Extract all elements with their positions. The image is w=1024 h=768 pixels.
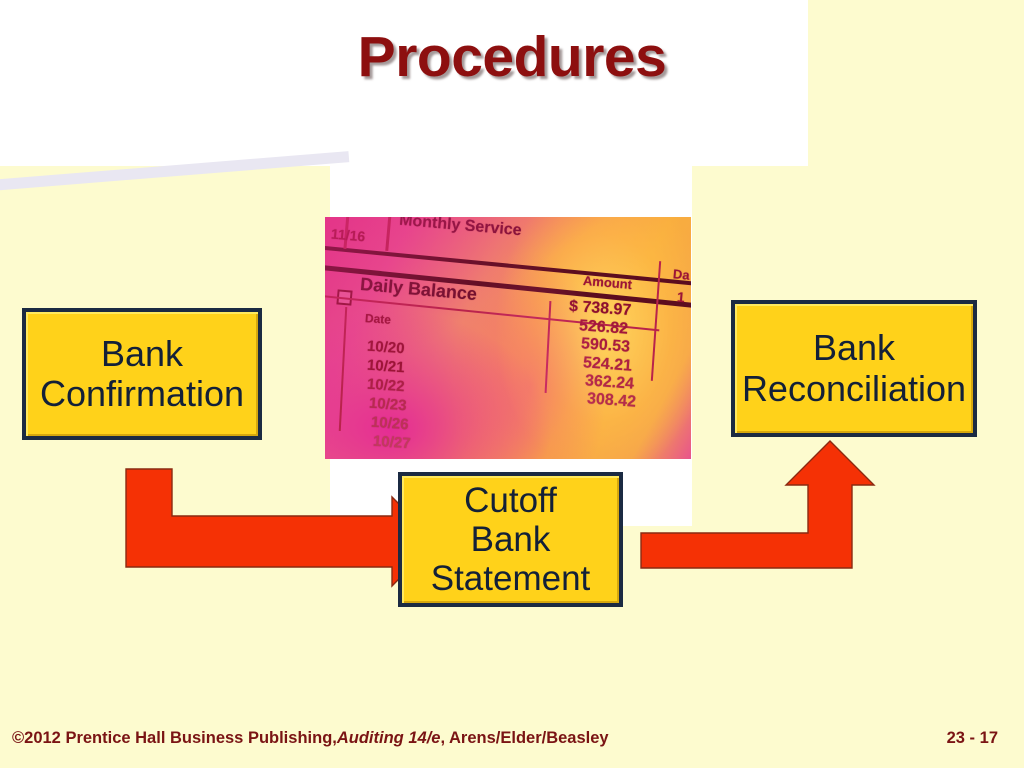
process-box-left-line1: Bank — [101, 334, 183, 374]
footer-book-title: Auditing 14/e — [337, 729, 441, 747]
process-box-bank-reconciliation[interactable]: Bank Reconciliation — [731, 300, 977, 437]
footer-authors: , Arens/Elder/Beasley — [440, 729, 608, 747]
process-box-right-line1: Bank — [813, 328, 895, 368]
footer-page-number: 23 - 17 — [947, 729, 998, 748]
footer-copyright-text: ©2012 Prentice Hall Business Publishing, — [12, 729, 337, 747]
process-box-bank-confirmation[interactable]: Bank Confirmation — [22, 308, 262, 440]
process-box-left-line2: Confirmation — [40, 374, 244, 414]
slide-canvas: Procedures 11/16 Monthly Service Daily B… — [0, 0, 1024, 768]
process-box-cutoff-bank-statement[interactable]: Cutoff Bank Statement — [398, 472, 623, 607]
process-box-center-line2: Bank — [471, 520, 551, 559]
footer-copyright: ©2012 Prentice Hall Business Publishing,… — [12, 729, 609, 748]
process-box-center-line3: Statement — [431, 559, 591, 598]
process-box-center-line1: Cutoff — [464, 481, 557, 520]
process-box-right-line2: Reconciliation — [742, 369, 966, 409]
